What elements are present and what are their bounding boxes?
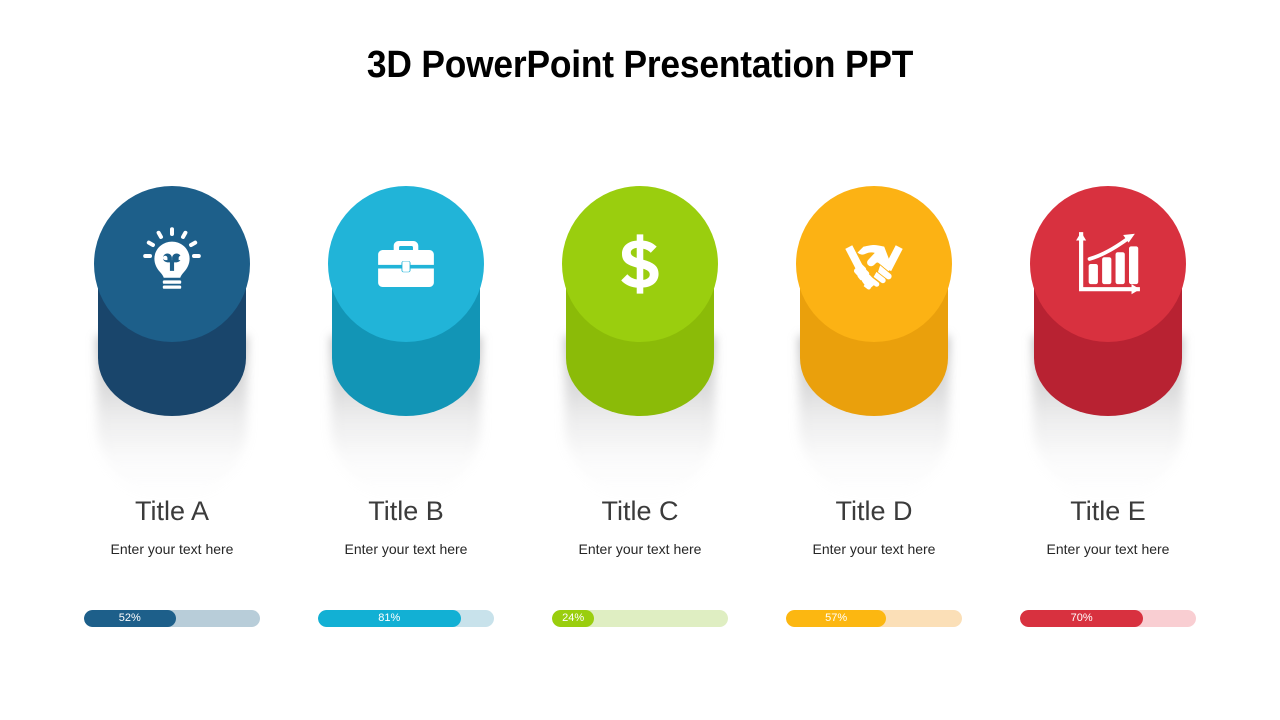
briefcase-icon: [328, 186, 484, 342]
progress-track-1[interactable]: 52%: [84, 610, 260, 627]
bar-chart-growth-icon: [1030, 186, 1186, 342]
progress-label-3: 24%: [562, 613, 584, 624]
handshake-icon: [796, 186, 952, 342]
column-title-3: Title C: [522, 496, 758, 527]
progress-track-4[interactable]: 57%: [786, 610, 962, 627]
progress-label-2: 81%: [378, 613, 400, 624]
column-1[interactable]: Title A Enter your text here 52%: [54, 0, 290, 720]
column-subtitle-1: Enter your text here: [54, 541, 290, 557]
pillar-1[interactable]: [94, 186, 250, 496]
pillar-2[interactable]: [328, 186, 484, 496]
pillar-columns: Title A Enter your text here 52%: [0, 0, 1280, 720]
column-3[interactable]: Title C Enter your text here 24%: [522, 0, 758, 720]
column-title-1: Title A: [54, 496, 290, 527]
progress-label-4: 57%: [825, 613, 847, 624]
column-5[interactable]: Title E Enter your text here 70%: [990, 0, 1226, 720]
pillar-4[interactable]: [796, 186, 952, 496]
slide-canvas: 3D PowerPoint Presentation PPT: [0, 0, 1280, 720]
progress-fill-4: 57%: [786, 610, 886, 627]
progress-fill-3: 24%: [552, 610, 594, 627]
column-title-2: Title B: [288, 496, 524, 527]
progress-track-2[interactable]: 81%: [318, 610, 494, 627]
progress-label-5: 70%: [1071, 613, 1093, 624]
pillar-3[interactable]: [562, 186, 718, 496]
progress-label-1: 52%: [119, 613, 141, 624]
column-title-4: Title D: [756, 496, 992, 527]
pillar-5[interactable]: [1030, 186, 1186, 496]
column-subtitle-4: Enter your text here: [756, 541, 992, 557]
column-subtitle-5: Enter your text here: [990, 541, 1226, 557]
progress-track-5[interactable]: 70%: [1020, 610, 1196, 627]
lightbulb-icon: [94, 186, 250, 342]
progress-fill-1: 52%: [84, 610, 176, 627]
column-2[interactable]: Title B Enter your text here 81%: [288, 0, 524, 720]
progress-track-3[interactable]: 24%: [552, 610, 728, 627]
column-4[interactable]: Title D Enter your text here 57%: [756, 0, 992, 720]
progress-fill-2: 81%: [318, 610, 461, 627]
column-subtitle-3: Enter your text here: [522, 541, 758, 557]
column-subtitle-2: Enter your text here: [288, 541, 524, 557]
dollar-icon: [562, 186, 718, 342]
column-title-5: Title E: [990, 496, 1226, 527]
progress-fill-5: 70%: [1020, 610, 1143, 627]
